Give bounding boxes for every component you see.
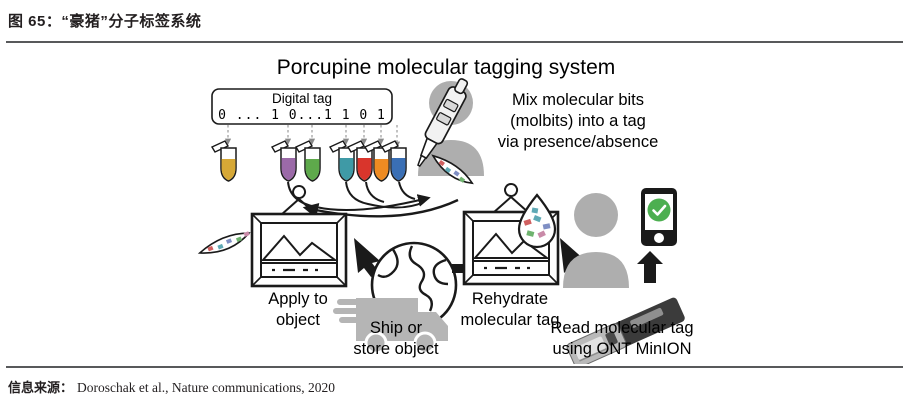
person-silhouette-icon-reader [563, 193, 629, 288]
tube-flow-arrows [288, 182, 428, 210]
digital-tag-bits: 0 ... 1 0...1 1 0 1 [218, 108, 386, 123]
test-tube-1 [212, 141, 236, 181]
step-rehydrate-line-1: Rehydrate [472, 290, 548, 308]
step-read-line-1: Read molecular tag [550, 319, 693, 337]
step-label-apply: Apply to object [268, 290, 328, 329]
step-apply-line-1: Apply to [268, 290, 328, 308]
source-text: Doroschak et al., Nature communications,… [77, 380, 335, 396]
mix-note-line-1: Mix molecular bits [512, 91, 644, 109]
check-circle-icon [648, 199, 671, 222]
phone-icon [641, 188, 677, 246]
source-line: 信息来源： Doroschak et al., Nature communica… [8, 377, 335, 396]
mix-note-line-3: via presence/absence [498, 133, 659, 151]
arrow-icon-up [637, 251, 663, 283]
digital-tag-caption: Digital tag [272, 91, 332, 106]
source-divider [6, 366, 903, 368]
mix-note-line-2: (molbits) into a tag [510, 112, 646, 130]
test-tube-2 [272, 141, 296, 181]
page-title: 图 65：“豪猪”分子标签系统 [8, 10, 201, 31]
source-label: 信息来源： [8, 377, 73, 396]
step-ship-line-1: Ship or [370, 319, 423, 337]
title-divider [6, 41, 903, 43]
diagram-title: Porcupine molecular tagging system [277, 56, 616, 79]
digital-tag-box: Digital tag 0 ... 1 0...1 1 0 1 [212, 89, 392, 124]
mix-note: Mix molecular bits (molbits) into a tag … [498, 91, 659, 151]
water-droplet-icon [519, 195, 555, 247]
step-apply-line-2: object [276, 311, 320, 329]
step-rehydrate-line-2: molecular tag [460, 311, 559, 329]
test-tube-3 [296, 141, 320, 181]
step-label-rehydrate: Rehydrate molecular tag [460, 290, 559, 329]
step-read-line-2: using ONT MinION [552, 340, 691, 358]
figure-canvas: Porcupine molecular tagging system Digit… [0, 48, 909, 364]
molecular-tag-icon-left [198, 228, 251, 259]
step-ship-line-2: store object [353, 340, 439, 358]
